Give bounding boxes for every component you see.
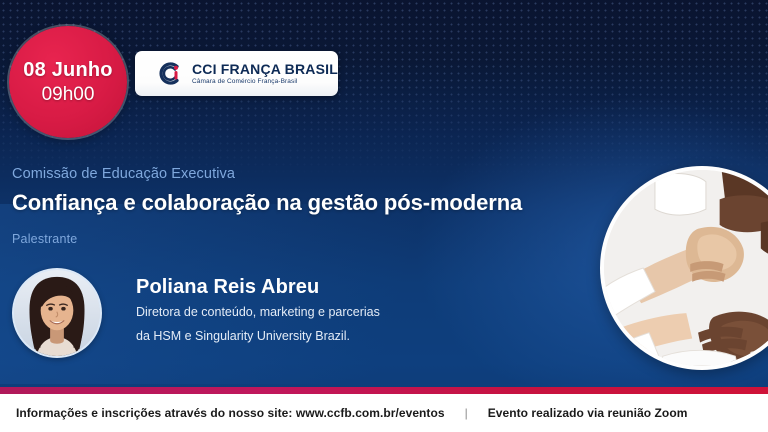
event-time: 09h00 — [42, 85, 95, 105]
brand-name: CCI FRANÇA BRASIL — [192, 62, 338, 76]
cci-monogram-icon — [157, 60, 184, 87]
brand-logo-plate: CCI FRANÇA BRASIL Câmara de Comércio Fra… — [135, 51, 338, 96]
speaker-label: Palestrante — [12, 232, 77, 246]
speaker-role-line-2: da HSM e Singularity University Brazil. — [136, 327, 380, 346]
footer-bar: Informações e inscrições através do noss… — [0, 394, 768, 432]
event-date: 08 Junho — [23, 60, 112, 81]
speaker-role-line-1: Diretora de conteúdo, marketing e parcer… — [136, 303, 380, 322]
footer-info-text: Informações e inscrições através do noss… — [16, 406, 445, 420]
event-kicker: Comissão de Educação Executiva — [12, 166, 235, 182]
brand-tagline: Câmara de Comércio França-Brasil — [192, 79, 338, 86]
event-banner: 08 Junho 09h00 CCI FRANÇA BRASIL Câmara … — [0, 0, 768, 432]
event-headline: Confiança e colaboração na gestão pós-mo… — [12, 190, 522, 216]
accent-divider-bar — [0, 387, 768, 394]
footer-platform-text: Evento realizado via reunião Zoom — [488, 406, 688, 420]
speaker-block: Poliana Reis Abreu Diretora de conteúdo,… — [12, 268, 380, 358]
speaker-name: Poliana Reis Abreu — [136, 276, 380, 298]
avatar — [12, 268, 102, 358]
collaboration-photo — [600, 166, 768, 370]
date-badge: 08 Junho 09h00 — [9, 26, 127, 138]
footer-separator: | — [465, 406, 468, 420]
